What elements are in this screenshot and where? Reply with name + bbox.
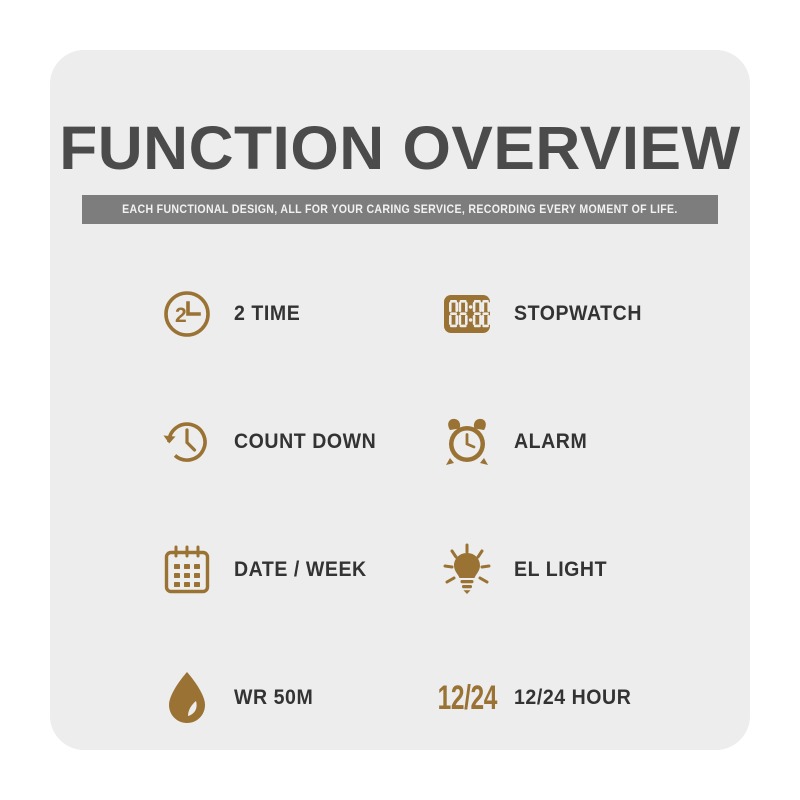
feature-label-date-week: DATE / WEEK bbox=[234, 558, 367, 582]
feature-item-wr-50m[interactable]: WR 50M bbox=[158, 634, 438, 762]
feature-item-date-week[interactable]: DATE / WEEK bbox=[158, 506, 438, 634]
page-title: FUNCTION OVERVIEW bbox=[43, 118, 757, 179]
feature-label-count-down: COUNT DOWN bbox=[234, 430, 376, 454]
feature-item-stopwatch[interactable]: STOPWATCH bbox=[438, 250, 678, 378]
calendar-icon bbox=[158, 541, 216, 599]
clock-counterclockwise-icon bbox=[158, 413, 216, 471]
feature-label-12-24-hour: 12/24 HOUR bbox=[514, 686, 631, 710]
digital-display-icon bbox=[438, 285, 496, 343]
feature-grid: 2 2 TIME bbox=[158, 250, 678, 762]
12-24-icon-label: 12/24 bbox=[437, 681, 496, 715]
clock-2-icon: 2 bbox=[158, 285, 216, 343]
feature-item-alarm[interactable]: ALARM bbox=[438, 378, 678, 506]
svg-text:2: 2 bbox=[175, 304, 187, 327]
function-overview-card: FUNCTION OVERVIEW EACH FUNCTIONAL DESIGN… bbox=[50, 50, 750, 750]
light-bulb-icon bbox=[438, 541, 496, 599]
feature-label-wr-50m: WR 50M bbox=[234, 686, 313, 710]
card-header: FUNCTION OVERVIEW EACH FUNCTIONAL DESIGN… bbox=[50, 118, 750, 224]
subtitle-banner: EACH FUNCTIONAL DESIGN, ALL FOR YOUR CAR… bbox=[82, 195, 718, 224]
feature-item-count-down[interactable]: COUNT DOWN bbox=[158, 378, 438, 506]
alarm-clock-icon bbox=[438, 413, 496, 471]
12-24-text-icon: 12/24 bbox=[438, 669, 496, 727]
feature-item-12-24-hour[interactable]: 12/24 12/24 HOUR bbox=[438, 634, 678, 762]
page-root: FUNCTION OVERVIEW EACH FUNCTIONAL DESIGN… bbox=[0, 0, 800, 800]
feature-item-el-light[interactable]: EL LIGHT bbox=[438, 506, 678, 634]
feature-item-2-time[interactable]: 2 2 TIME bbox=[158, 250, 438, 378]
feature-label-2-time: 2 TIME bbox=[234, 302, 300, 326]
feature-label-stopwatch: STOPWATCH bbox=[514, 302, 642, 326]
water-drop-icon bbox=[158, 669, 216, 727]
subtitle-text: EACH FUNCTIONAL DESIGN, ALL FOR YOUR CAR… bbox=[122, 204, 678, 216]
feature-label-alarm: ALARM bbox=[514, 430, 587, 454]
feature-label-el-light: EL LIGHT bbox=[514, 558, 607, 582]
